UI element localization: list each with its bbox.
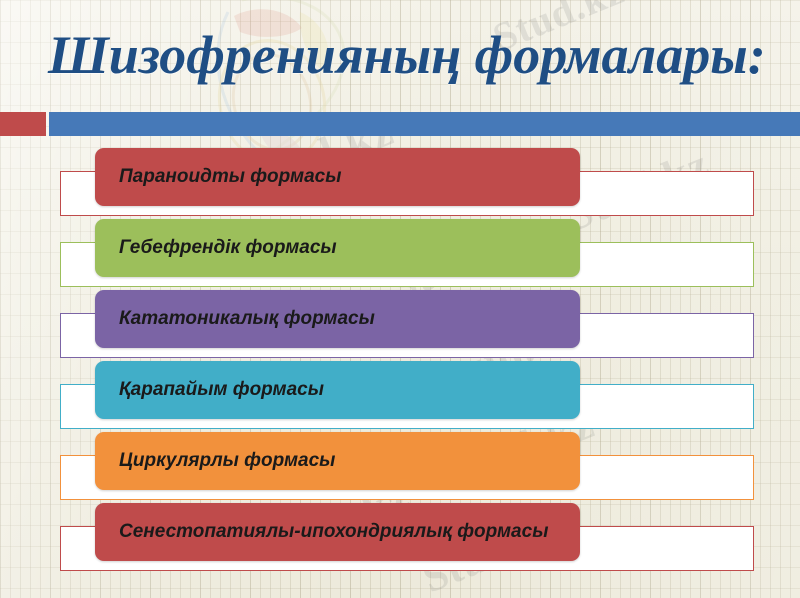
list-item[interactable]: Кататоникалық формасы	[0, 288, 800, 358]
forms-list: Параноидты формасы Гебефрендік формасы К…	[0, 146, 800, 572]
list-item-label: Қарапайым формасы	[119, 379, 324, 401]
list-item-label: Параноидты формасы	[119, 166, 341, 188]
list-item[interactable]: Сенестопатиялы-ипохондриялық формасы	[0, 501, 800, 571]
divider-bar	[49, 112, 800, 136]
divider-accent-block	[0, 112, 46, 136]
list-item-chip[interactable]: Гебефрендік формасы	[95, 219, 580, 277]
list-item-chip[interactable]: Қарапайым формасы	[95, 361, 580, 419]
list-item[interactable]: Циркулярлы формасы	[0, 430, 800, 500]
list-item-label: Гебефрендік формасы	[119, 237, 337, 259]
list-item-chip[interactable]: Сенестопатиялы-ипохондриялық формасы	[95, 503, 580, 561]
list-item-label: Кататоникалық формасы	[119, 308, 375, 330]
slide-canvas: Stud.kz Stud.kz Stud.kz - Stud.kz Stud.k…	[0, 0, 800, 598]
title-divider-band	[0, 112, 800, 136]
list-item-label: Сенестопатиялы-ипохондриялық формасы	[119, 521, 548, 543]
list-item[interactable]: Қарапайым формасы	[0, 359, 800, 429]
list-item-chip[interactable]: Кататоникалық формасы	[95, 290, 580, 348]
list-item-label: Циркулярлы формасы	[119, 450, 335, 472]
list-item[interactable]: Гебефрендік формасы	[0, 217, 800, 287]
list-item[interactable]: Параноидты формасы	[0, 146, 800, 216]
list-item-chip[interactable]: Циркулярлы формасы	[95, 432, 580, 490]
slide-title: Шизофренияның формалары:	[48, 24, 766, 86]
list-item-chip[interactable]: Параноидты формасы	[95, 148, 580, 206]
